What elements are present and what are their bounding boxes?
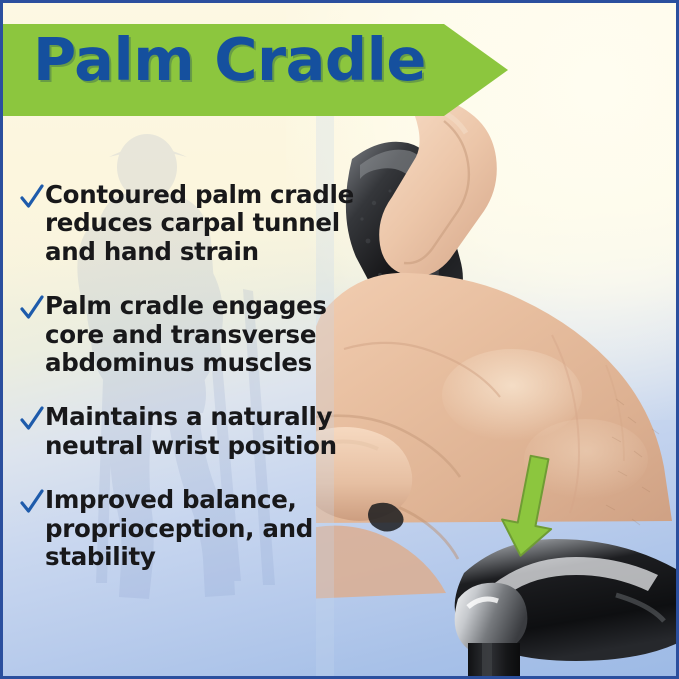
check-icon: [19, 487, 45, 517]
page-title: Palm Cradle: [33, 30, 426, 89]
list-item: Maintains a naturally neutral wrist posi…: [19, 403, 359, 460]
list-item: Improved balance, proprioception, and st…: [19, 486, 359, 571]
list-item: Contoured palm cradle reduces carpal tun…: [19, 181, 359, 266]
down-arrow-icon: [501, 453, 563, 561]
infographic-canvas: Palm Cradle Contoured palm cradle reduce…: [0, 0, 679, 679]
list-item-label: Palm cradle engages core and transverse …: [45, 292, 327, 377]
list-item-label: Maintains a naturally neutral wrist posi…: [45, 403, 337, 460]
list-item-label: Improved balance, proprioception, and st…: [45, 486, 313, 571]
benefits-list: Contoured palm cradle reduces carpal tun…: [19, 181, 359, 597]
check-icon: [19, 182, 45, 212]
cane-shaft: [468, 643, 520, 679]
hand-gripping-cane-handle-photo: [316, 99, 676, 679]
check-icon: [19, 293, 45, 323]
check-icon: [19, 404, 45, 434]
list-item-label: Contoured palm cradle reduces carpal tun…: [45, 181, 354, 266]
list-item: Palm cradle engages core and transverse …: [19, 292, 359, 377]
